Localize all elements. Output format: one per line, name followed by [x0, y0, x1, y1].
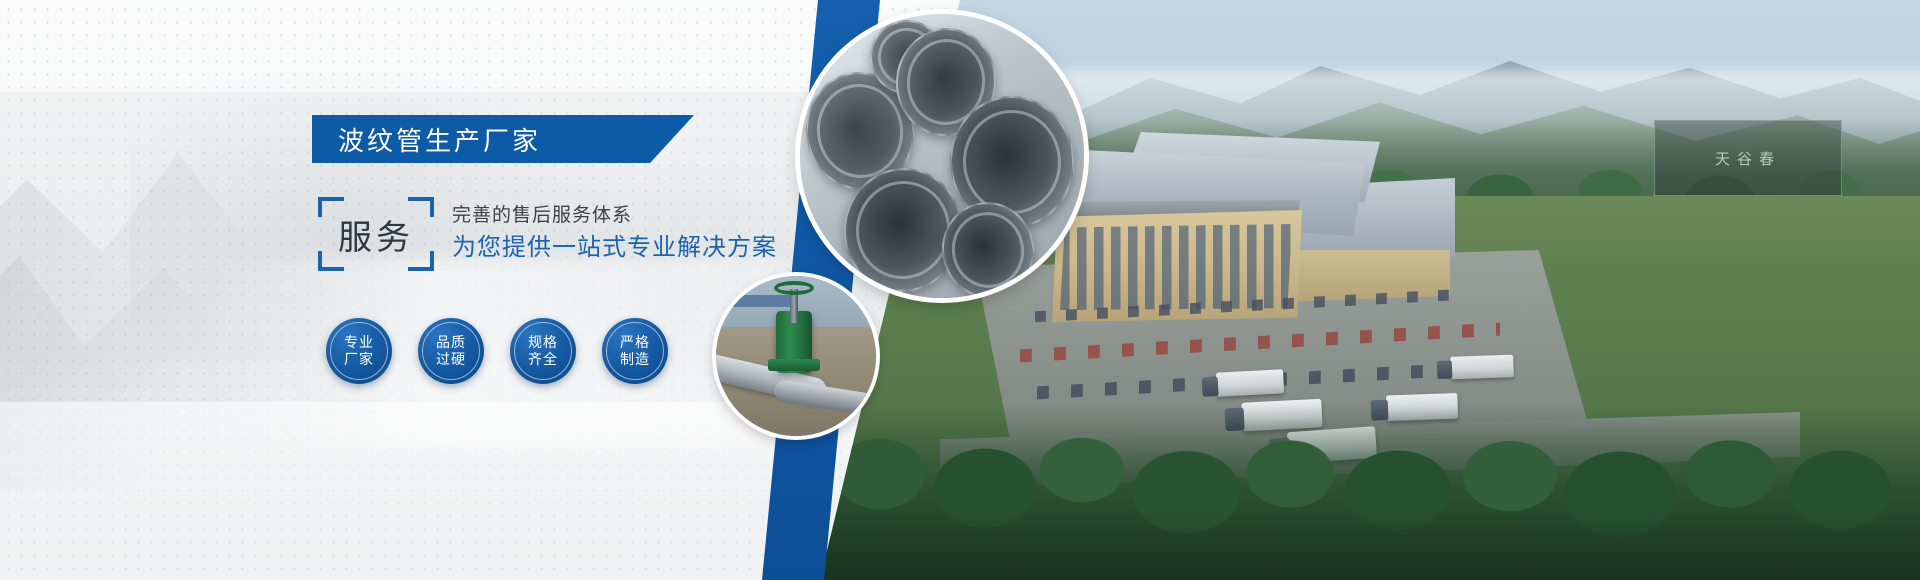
valve-flange	[768, 359, 820, 371]
service-tagline-primary: 完善的售后服务体系	[452, 203, 777, 229]
feature-badge-line1: 严格	[620, 334, 650, 351]
feature-badge[interactable]: 专业 厂家	[326, 318, 392, 384]
headline-bar: 波纹管生产厂家	[312, 115, 694, 163]
corner-bracket-bottom-left	[318, 251, 344, 271]
corner-bracket-top-right	[408, 197, 434, 217]
corner-bracket-top-left	[318, 197, 344, 217]
service-keyword-frame: 服务	[318, 197, 434, 271]
photo-office-windows	[1060, 224, 1292, 310]
corner-bracket-bottom-right	[408, 251, 434, 271]
feature-badge-line2: 制造	[620, 351, 650, 368]
feature-badge-line2: 厂家	[344, 351, 374, 368]
feature-badge-list: 专业 厂家 品质 过硬 规格 齐全 严格 制造	[326, 318, 668, 384]
promo-banner: 天谷春 波纹管生产厂家 服务	[0, 0, 1920, 580]
feature-badge-line1: 规格	[528, 334, 558, 351]
photo-truck	[1450, 355, 1514, 380]
valve-site-banner	[728, 295, 798, 307]
photo-bottom-shadow	[820, 510, 1920, 580]
valve-handwheel	[774, 281, 814, 295]
feature-badge[interactable]: 严格 制造	[602, 318, 668, 384]
feature-badge[interactable]: 规格 齐全	[510, 318, 576, 384]
valve-photo-circle	[716, 276, 876, 436]
corrugated-pipe-photo-circle	[800, 14, 1084, 298]
service-tagline-secondary: 为您提供一站式专业解决方案	[452, 231, 777, 265]
service-taglines: 完善的售后服务体系 为您提供一站式专业解决方案	[452, 203, 777, 264]
feature-badge-line2: 过硬	[436, 351, 466, 368]
feature-badge-line2: 齐全	[528, 351, 558, 368]
photo-truck	[1216, 369, 1284, 396]
service-block: 服务 完善的售后服务体系 为您提供一站式专业解决方案	[318, 196, 788, 272]
page-title: 波纹管生产厂家	[312, 121, 541, 158]
feature-badge-line1: 品质	[436, 334, 466, 351]
feature-badge-line1: 专业	[344, 334, 374, 351]
feature-badge[interactable]: 品质 过硬	[418, 318, 484, 384]
photo-signboard: 天谷春	[1654, 120, 1842, 196]
service-keyword: 服务	[338, 210, 414, 259]
